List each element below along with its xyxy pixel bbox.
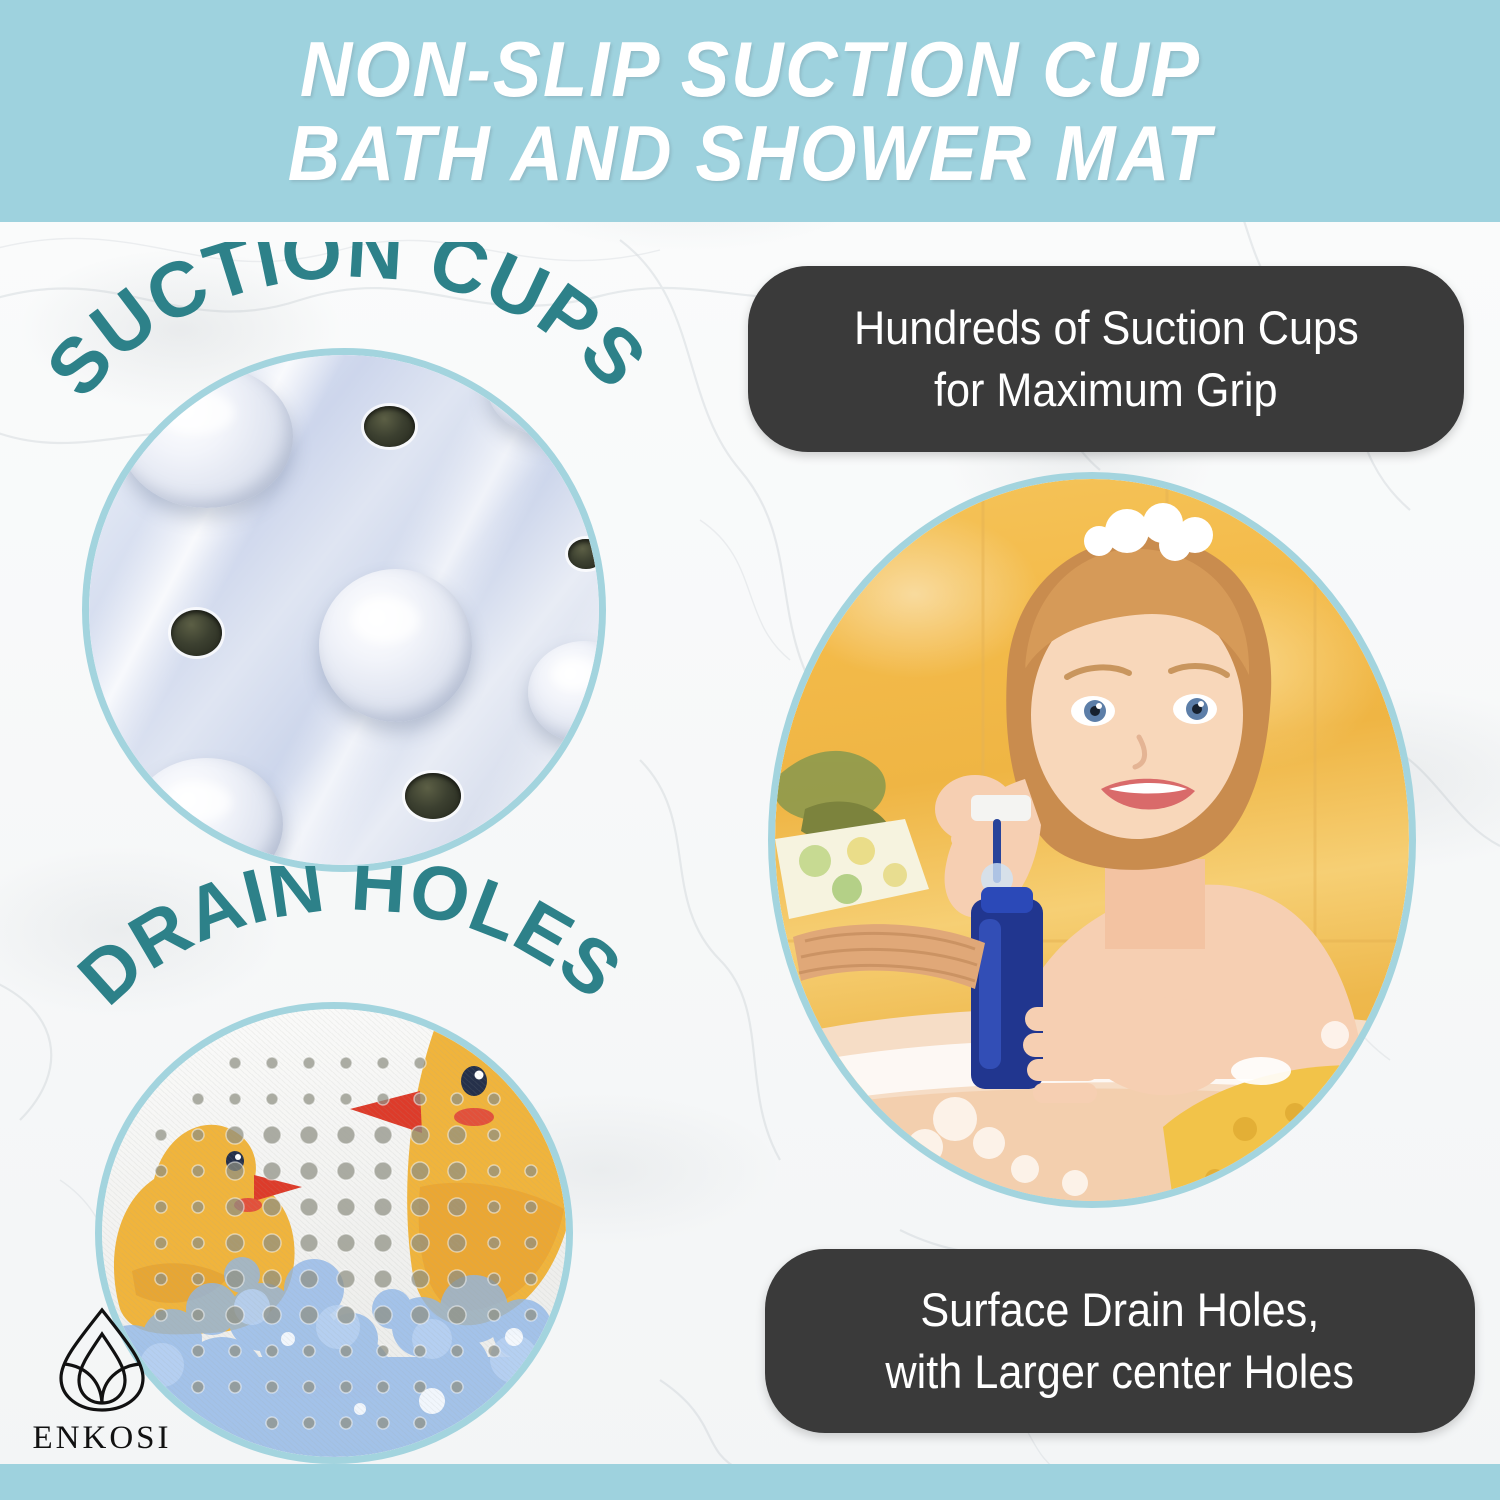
brand-name: ENKOSI bbox=[33, 1420, 172, 1457]
callout-maximum-grip: Hundreds of Suction Cups for Maximum Gri… bbox=[748, 266, 1464, 452]
callout-grip-line-1: Hundreds of Suction Cups bbox=[854, 297, 1359, 359]
svg-text:DRAIN HOLES: DRAIN HOLES bbox=[62, 866, 637, 1021]
banner-title-line-1: NON-SLIP SUCTION CUP bbox=[300, 27, 1201, 111]
suction-cups-heading-text: SUCTION CUPS bbox=[40, 242, 660, 413]
banner-title-line-2: BATH AND SHOWER MAT bbox=[288, 111, 1213, 195]
callout-drain-line-2: with Larger center Holes bbox=[886, 1341, 1355, 1403]
child-figure bbox=[935, 503, 1365, 1103]
footer-banner bbox=[0, 1464, 1500, 1500]
water-droplet-lotus-icon bbox=[43, 1300, 161, 1418]
drain-holes-heading-text: DRAIN HOLES bbox=[62, 866, 637, 1021]
callout-grip-line-2: for Maximum Grip bbox=[934, 359, 1278, 421]
wicker-basket bbox=[793, 924, 985, 989]
callout-drain-line-1: Surface Drain Holes, bbox=[921, 1279, 1320, 1341]
drain-holes-heading: DRAIN HOLES bbox=[52, 866, 652, 1091]
callout-drain-holes: Surface Drain Holes, with Larger center … bbox=[765, 1249, 1475, 1433]
svg-text:SUCTION CUPS: SUCTION CUPS bbox=[40, 242, 660, 413]
brand-logo: ENKOSI bbox=[22, 1300, 182, 1457]
suction-cups-heading: SUCTION CUPS bbox=[40, 242, 660, 472]
soap-bar bbox=[775, 819, 929, 919]
header-banner: NON-SLIP SUCTION CUP BATH AND SHOWER MAT bbox=[0, 0, 1500, 222]
child-bath-photo bbox=[768, 472, 1416, 1208]
product-infographic: NON-SLIP SUCTION CUP BATH AND SHOWER MAT… bbox=[0, 0, 1500, 1500]
